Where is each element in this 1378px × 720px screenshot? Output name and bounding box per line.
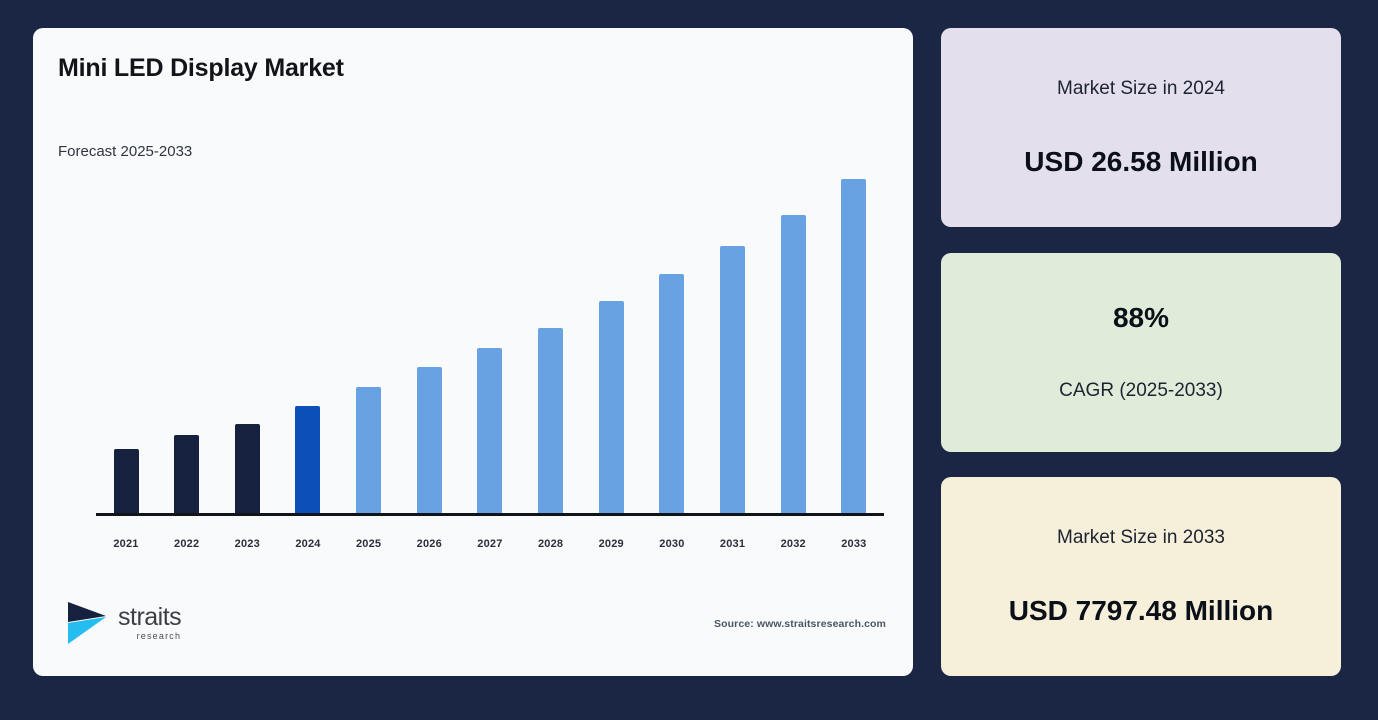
bar-slot: [217, 178, 277, 513]
bar-2024[interactable]: [295, 406, 320, 513]
stat-card-label: Market Size in 2024: [1057, 78, 1225, 100]
stat-card-label: Market Size in 2033: [1057, 527, 1225, 549]
bar-slot: [460, 178, 520, 513]
chart-subtitle: Forecast 2025-2033: [58, 143, 192, 160]
bar-2032[interactable]: [781, 215, 806, 513]
bar-slot: [399, 178, 459, 513]
stat-card-value: 88%: [1113, 302, 1169, 334]
bar-2031[interactable]: [720, 246, 745, 513]
chart-title: Mini LED Display Market: [58, 54, 344, 83]
x-tick-label-2028: 2028: [521, 538, 581, 550]
bar-2025[interactable]: [356, 387, 381, 513]
x-tick-label-2032: 2032: [763, 538, 823, 550]
x-tick-label-2031: 2031: [703, 538, 763, 550]
chart-panel: Mini LED Display Market Forecast 2025-20…: [33, 28, 913, 676]
bar-group: [96, 178, 884, 513]
bar-2023[interactable]: [235, 424, 260, 513]
bar-slot: [581, 178, 641, 513]
stat-card-value: USD 7797.48 Million: [1009, 595, 1274, 627]
bar-2027[interactable]: [477, 348, 502, 513]
stat-card-value: USD 26.58 Million: [1024, 146, 1257, 178]
straits-research-logo: straits research: [66, 600, 181, 646]
source-attribution: Source: www.straitsresearch.com: [714, 618, 886, 630]
bar-2029[interactable]: [599, 301, 624, 513]
logo-wordmark: straits research: [118, 605, 181, 641]
x-tick-label-2030: 2030: [642, 538, 702, 550]
x-tick-label-2025: 2025: [339, 538, 399, 550]
straits-research-arrow-logo: [66, 600, 110, 646]
logo-subword: research: [118, 632, 181, 641]
bar-chart-plot-area: 2021202220232024202520262027202820292030…: [64, 178, 884, 578]
bar-slot: [763, 178, 823, 513]
bar-2030[interactable]: [659, 274, 684, 513]
stat-card-market-size-2024: Market Size in 2024USD 26.58 Million: [941, 28, 1341, 227]
bar-2026[interactable]: [417, 367, 442, 513]
x-tick-label-2024: 2024: [278, 538, 338, 550]
bar-slot: [642, 178, 702, 513]
bar-slot: [278, 178, 338, 513]
bar-slot: [96, 178, 156, 513]
x-tick-label-2029: 2029: [581, 538, 641, 550]
x-tick-label-2021: 2021: [96, 538, 156, 550]
bar-2033[interactable]: [841, 179, 866, 513]
x-axis-tick-labels: 2021202220232024202520262027202820292030…: [96, 538, 884, 550]
bar-2022[interactable]: [174, 435, 199, 513]
x-tick-label-2022: 2022: [157, 538, 217, 550]
infographic-page: Mini LED Display Market Forecast 2025-20…: [0, 0, 1378, 720]
x-tick-label-2026: 2026: [399, 538, 459, 550]
bar-slot: [521, 178, 581, 513]
x-tick-label-2023: 2023: [217, 538, 277, 550]
x-tick-label-2033: 2033: [824, 538, 884, 550]
bar-slot: [339, 178, 399, 513]
bar-2021[interactable]: [114, 449, 139, 513]
bar-2028[interactable]: [538, 328, 563, 513]
bar-slot: [703, 178, 763, 513]
x-axis-line: [96, 513, 884, 516]
bar-slot: [157, 178, 217, 513]
stat-card-label: CAGR (2025-2033): [1059, 380, 1223, 402]
bar-slot: [824, 178, 884, 513]
stat-card-column: Market Size in 2024USD 26.58 Million88%C…: [941, 28, 1341, 676]
x-tick-label-2027: 2027: [460, 538, 520, 550]
stat-card-market-size-2033: Market Size in 2033USD 7797.48 Million: [941, 477, 1341, 676]
logo-word: straits: [118, 605, 181, 630]
stat-card-cagr: 88%CAGR (2025-2033): [941, 253, 1341, 452]
